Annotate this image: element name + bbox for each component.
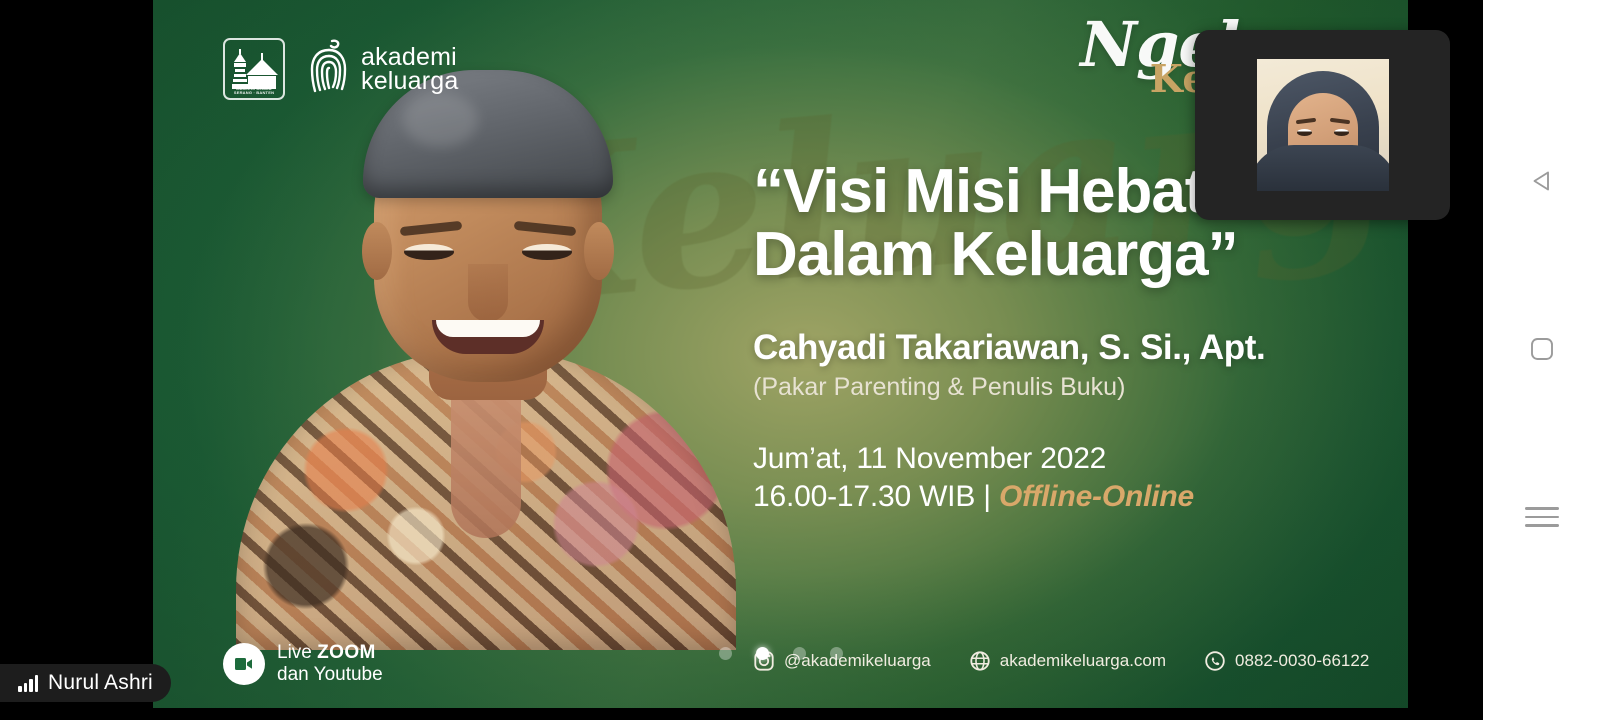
flyer-event-mode: Offline-Online (999, 480, 1194, 513)
contact-website-label: akademikeluarga.com (1000, 651, 1166, 671)
home-square-icon (1529, 336, 1555, 362)
speaker-eye-left (404, 244, 454, 260)
akademi-keluarga-wordmark: akademi keluarga (361, 45, 459, 94)
speaker-nose (468, 264, 508, 322)
avatar-brow-left (1295, 118, 1315, 124)
speaker-head (374, 102, 602, 382)
back-triangle-icon (1528, 167, 1556, 195)
phone-screen: Keluarga Ngelmu Keluarga (0, 0, 1600, 720)
avatar-eye-left (1297, 129, 1312, 136)
self-view-avatar (1257, 59, 1389, 191)
live-stream-badge: Live ZOOM dan Youtube (223, 642, 383, 686)
nav-back-button[interactable] (1519, 158, 1565, 204)
flyer-title-line-2: Dalam Keluarga” (753, 220, 1238, 289)
speaker-brow-left (400, 221, 463, 236)
carousel-dot-1[interactable] (719, 647, 732, 660)
self-view-thumbnail[interactable] (1195, 30, 1450, 220)
flyer-title-line-1: “Visi Misi Hebat (753, 157, 1204, 226)
brand-line-2: keluarga (361, 69, 459, 94)
flyer-speaker-name: Cahyadi Takariawan, S. Si., Apt. (753, 328, 1313, 368)
live-badge-platform: ZOOM (317, 642, 376, 663)
globe-icon (969, 650, 991, 672)
whatsapp-icon (1204, 650, 1226, 672)
nav-recents-button[interactable] (1519, 494, 1565, 540)
nav-home-button[interactable] (1519, 326, 1565, 372)
contact-strip: @akademikeluarga akademikeluarga.com (753, 650, 1369, 672)
avatar-brow-right (1329, 118, 1349, 124)
video-camera-icon (223, 643, 265, 685)
contact-whatsapp-label: 0882-0030-66122 (1235, 651, 1369, 671)
recents-hamburger-icon (1525, 507, 1559, 527)
avatar-shoulders (1257, 145, 1389, 191)
akademi-keluarga-logo: akademi keluarga (305, 39, 459, 99)
live-badge-line-1: Live ZOOM (277, 642, 376, 663)
mosque-icon: MAJELIS ULAMASERANG · BANTEN (223, 38, 285, 100)
carousel-dots[interactable] (719, 647, 843, 660)
carousel-dot-2-active[interactable] (756, 647, 769, 660)
mosque-logo-caption: MAJELIS ULAMASERANG · BANTEN (225, 87, 283, 96)
brand-line-1: akademi (361, 45, 459, 70)
speaker-ear-left (362, 222, 392, 280)
live-stream-badge-text: Live ZOOM dan Youtube (277, 642, 383, 686)
flyer-event-date: Jum’at, 11 November 2022 (753, 442, 1313, 476)
contact-whatsapp[interactable]: 0882-0030-66122 (1204, 650, 1369, 672)
participant-name-label: Nurul Ashri (48, 671, 153, 695)
speaker-ear-right (584, 222, 614, 280)
carousel-dot-3[interactable] (793, 647, 806, 660)
flyer-event-time: 16.00-17.30 WIB | Offline-Online (753, 480, 1313, 514)
flyer-event-time-text: 16.00-17.30 WIB | (753, 480, 999, 513)
android-navigation-bar (1483, 0, 1600, 720)
speaker-portrait-photo (228, 75, 748, 650)
fingerprint-icon (305, 39, 351, 99)
flyer-speaker-role: (Pakar Parenting & Penulis Buku) (753, 373, 1313, 402)
contact-website[interactable]: akademikeluarga.com (969, 650, 1166, 672)
brand-logo-row: MAJELIS ULAMASERANG · BANTEN (223, 38, 459, 100)
speaker-eye-right (522, 244, 572, 260)
avatar-eye-right (1334, 129, 1349, 136)
speaker-brow-right (514, 221, 577, 236)
carousel-dot-4[interactable] (830, 647, 843, 660)
live-badge-line-2: dan Youtube (277, 664, 383, 685)
live-badge-prefix: Live (277, 642, 317, 663)
speaker-mouth (432, 320, 544, 354)
signal-strength-icon (18, 675, 38, 692)
participant-name-chip: Nurul Ashri (0, 664, 171, 702)
